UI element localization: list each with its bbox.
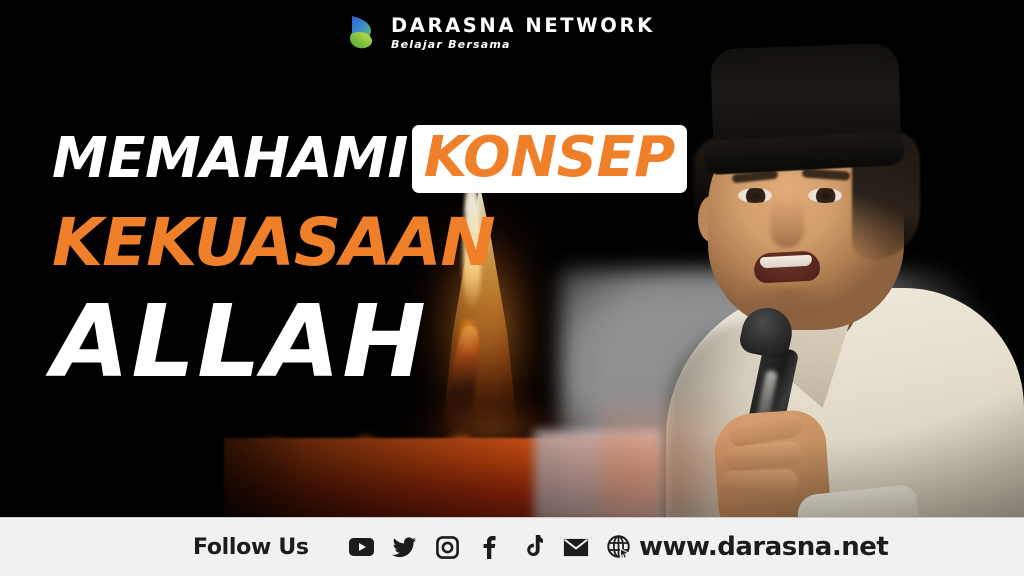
video-thumbnail: DARASNA NETWORK Belajar Bersama MEMAHAMI… — [0, 0, 1024, 576]
speaker-nose — [770, 196, 804, 248]
follow-us-label: Follow Us — [193, 535, 309, 560]
social-icons-row — [348, 534, 632, 560]
footer-bar: Follow Us — [0, 517, 1024, 576]
headline-line-2: KEKUASAAN — [52, 206, 687, 280]
headline-line-1: MEMAHAMI KONSEP — [52, 126, 687, 192]
headline-word-kekuasaan: KEKUASAAN — [52, 210, 495, 276]
email-icon[interactable] — [563, 534, 589, 560]
website-globe-icon[interactable] — [606, 534, 632, 560]
warm-light-spill — [600, 400, 740, 520]
youtube-icon[interactable] — [348, 534, 374, 560]
headline-word-konsep: KONSEP — [424, 125, 675, 190]
headline-line-3: ALLAH — [52, 290, 687, 394]
instagram-icon[interactable] — [434, 534, 460, 560]
headline-highlight-box: KONSEP — [412, 125, 687, 193]
tiktok-icon[interactable] — [520, 534, 546, 560]
headline-word-memahami: MEMAHAMI — [52, 131, 408, 187]
brand-name: DARASNA NETWORK — [391, 16, 655, 36]
brand-logo[interactable]: DARASNA NETWORK Belajar Bersama — [348, 13, 655, 53]
speaker-eye-right — [808, 188, 842, 203]
speaker-eye-left — [738, 188, 772, 203]
flame-leaf-logo-icon — [348, 13, 382, 53]
headline-block: MEMAHAMI KONSEP KEKUASAAN ALLAH — [52, 126, 687, 394]
headline-word-allah: ALLAH — [52, 292, 428, 392]
facebook-icon[interactable] — [477, 534, 503, 560]
twitter-icon[interactable] — [391, 534, 417, 560]
website-url[interactable]: www.darasna.net — [639, 532, 888, 562]
brand-logo-text: DARASNA NETWORK Belajar Bersama — [391, 16, 655, 50]
brand-tagline: Belajar Bersama — [391, 39, 655, 50]
